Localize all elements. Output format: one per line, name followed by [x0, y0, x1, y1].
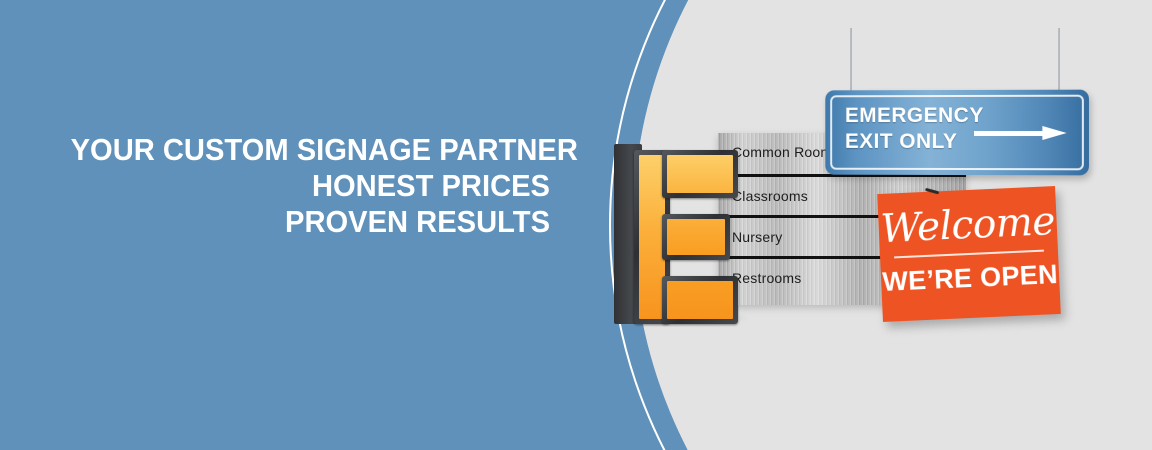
directory-row-label: Common Room — [732, 144, 832, 160]
headline-line-1: YOUR CUSTOM SIGNAGE PARTNER — [71, 132, 550, 168]
headline-line-2: HONEST PRICES — [71, 168, 550, 204]
headline-line-3: PROVEN RESULTS — [71, 204, 550, 240]
hanging-cable-left — [850, 28, 852, 94]
hanging-cable-right — [1058, 28, 1060, 94]
welcome-sign: Welcome WE’RE OPEN — [877, 186, 1061, 322]
pin-icon — [925, 186, 941, 195]
directory-row-label: Restrooms — [732, 270, 801, 286]
page-title: YOUR CUSTOM SIGNAGE PARTNER HONEST PRICE… — [71, 132, 550, 240]
hero-banner: YOUR CUSTOM SIGNAGE PARTNER HONEST PRICE… — [0, 0, 1152, 450]
directory-row-label: Nursery — [732, 229, 782, 245]
welcome-script-text: Welcome — [878, 200, 1058, 252]
channel-letter-face — [634, 150, 738, 324]
welcome-sign-panel: Welcome WE’RE OPEN — [877, 186, 1061, 322]
channel-letter-e — [614, 144, 738, 324]
directory-row-label: Classrooms — [732, 188, 808, 204]
welcome-divider — [894, 250, 1044, 259]
arrow-right-icon — [974, 126, 1067, 140]
exit-sign-line-1: EMERGENCY — [845, 103, 984, 129]
letter-arm-middle — [662, 214, 730, 260]
exit-sign-panel: EMERGENCY EXIT ONLY — [825, 90, 1089, 176]
letter-arm-bottom — [662, 276, 738, 324]
welcome-subtext: WE’RE OPEN — [880, 259, 1059, 298]
exit-sign-text: EMERGENCY EXIT ONLY — [845, 103, 984, 155]
exit-sign-line-2: EXIT ONLY — [845, 129, 984, 155]
letter-arm-top — [662, 150, 738, 198]
emergency-exit-sign: EMERGENCY EXIT ONLY — [824, 0, 1088, 192]
